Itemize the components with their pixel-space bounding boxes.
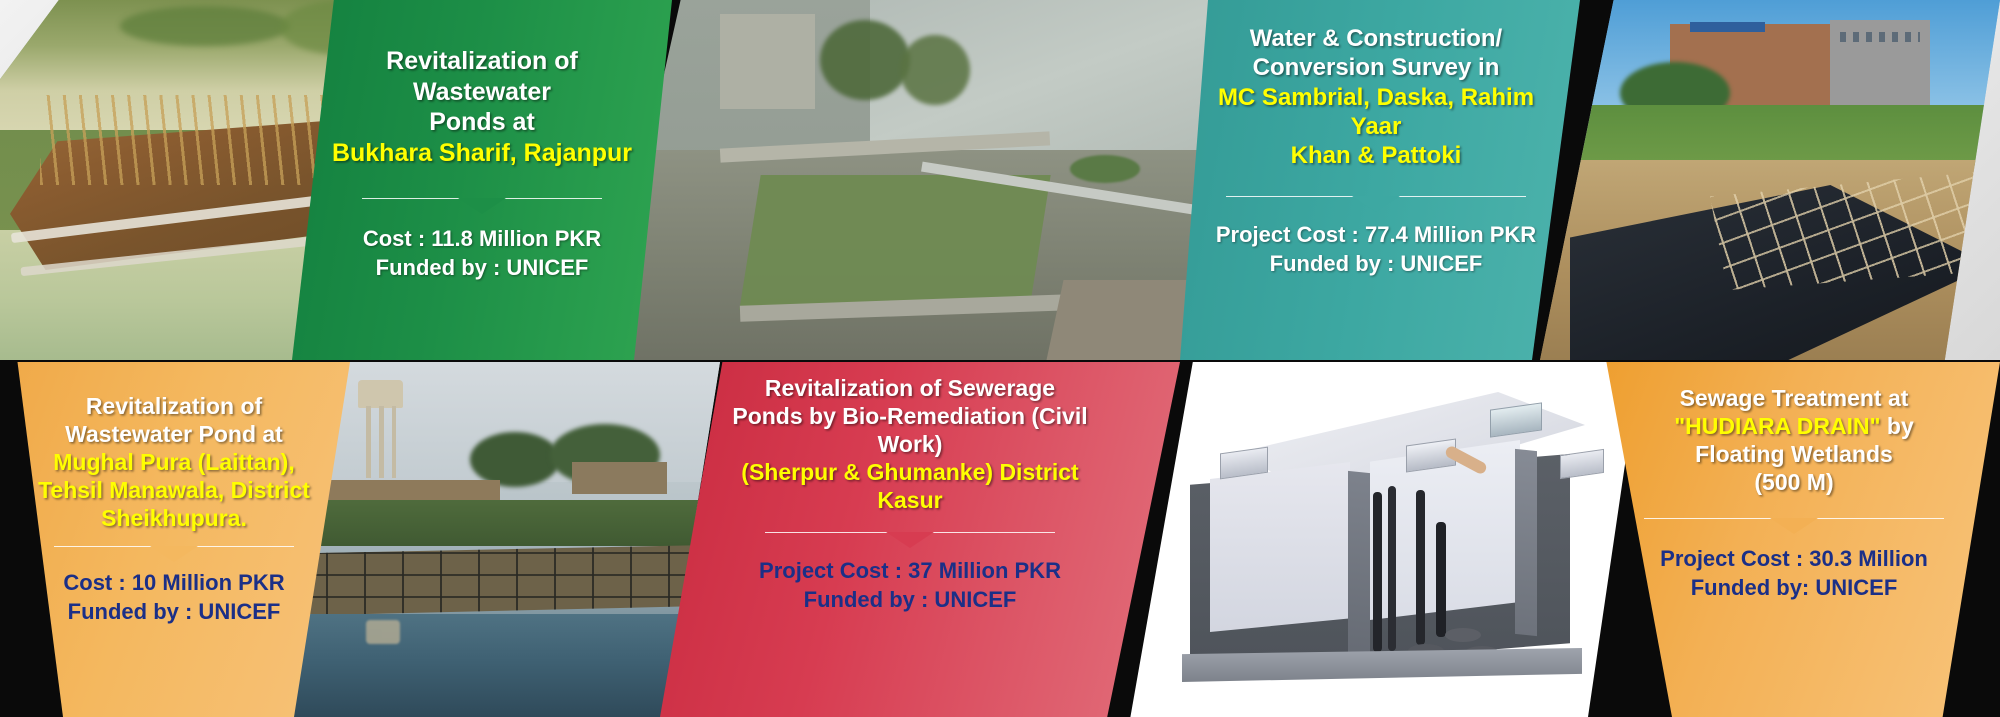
vertical-pipe [1373, 492, 1382, 652]
tank-divider-wall [1348, 471, 1370, 658]
panel-title: Revitalization of Wastewater Pond at Mug… [32, 392, 316, 532]
tree-canopy [900, 35, 970, 105]
building-structure [720, 14, 815, 109]
grass-embankment [1540, 105, 2000, 167]
vertical-pipe [1388, 486, 1396, 651]
infographic-board: Revitalization of Wastewater Ponds at Bu… [0, 0, 2000, 717]
panel-title: Water & Construction/ Conversion Survey … [1186, 24, 1566, 170]
cost-line: Project Cost : 30.3 Million [1660, 545, 1928, 574]
panel-cost-block: Project Cost : 30.3 Million Funded by: U… [1660, 545, 1928, 602]
panel-hudiara-drain-floating-wetlands: Sewage Treatment at "HUDIARA DRAIN" by F… [1604, 384, 1984, 694]
funded-line: Funded by : UNICEF [759, 586, 1061, 615]
panel-divider-group [700, 532, 1120, 533]
title-line: Sewage Treatment at [1674, 384, 1913, 412]
title-highlight-with-suffix: "HUDIARA DRAIN" by [1674, 412, 1913, 440]
title-line: Revitalization of Wastewater [318, 46, 646, 107]
funded-line: Funded by : UNICEF [363, 254, 601, 283]
title-highlight-line: MC Sambrial, Daska, Rahim Yaar [1192, 83, 1560, 142]
cost-line: Project Cost : 37 Million PKR [759, 557, 1061, 586]
vertical-pipe [1436, 522, 1446, 637]
title-line: (500 M) [1674, 468, 1913, 496]
tree-canopy [470, 432, 560, 487]
photo-aerial-treatment-pond-site [600, 0, 1220, 360]
photo-treatment-tank-3d-render [1120, 362, 1640, 717]
panel-title: Revitalization of Sewerage Ponds by Bio-… [726, 374, 1093, 514]
title-highlight-line: "HUDIARA DRAIN" [1674, 413, 1880, 439]
title-highlight-line: Tehsil Manawala, District [38, 476, 310, 504]
water-tower-tank [358, 380, 403, 408]
cost-line: Cost : 10 Million PKR [63, 569, 284, 598]
arrow-down-icon [1770, 518, 1818, 534]
title-line: Ponds at [318, 107, 646, 138]
grass-plot [739, 175, 1050, 310]
grey-building-windows [1840, 32, 1920, 42]
funded-line: Funded by : UNICEF [1216, 250, 1536, 279]
panel-cost-block: Cost : 10 Million PKR Funded by : UNICEF [63, 569, 284, 626]
arrow-down-icon [458, 198, 506, 214]
photo-lined-drain-with-buildings [1540, 0, 2000, 360]
panel-divider-group [14, 546, 334, 547]
panel-title: Sewage Treatment at "HUDIARA DRAIN" by F… [1668, 384, 1919, 496]
funded-line: Funded by : UNICEF [63, 598, 284, 627]
title-line: Floating Wetlands [1674, 440, 1913, 468]
title-line: Revitalization of [38, 392, 310, 420]
funded-line: Funded by: UNICEF [1660, 574, 1928, 603]
panel-cost-block: Cost : 11.8 Million PKR Funded by : UNIC… [363, 225, 601, 282]
title-line: Ponds by Bio-Remediation (Civil [732, 402, 1087, 430]
arrow-down-icon [886, 532, 934, 548]
tank-divider-wall [1515, 449, 1537, 636]
title-line: Revitalization of Sewerage [732, 374, 1087, 402]
vertical-pipe [1416, 490, 1425, 645]
title-line: Water & Construction/ [1192, 24, 1560, 53]
panel-cost-block: Project Cost : 37 Million PKR Funded by … [759, 557, 1061, 614]
tower-reflection [366, 620, 400, 644]
title-line: Wastewater Pond at [38, 420, 310, 448]
title-suffix: by [1887, 413, 1914, 439]
cost-line: Cost : 11.8 Million PKR [363, 225, 601, 254]
title-highlight-line: Khan & Pattoki [1192, 141, 1560, 170]
title-highlight-line: Kasur [732, 486, 1087, 514]
title-highlight-line: Sheikhupura. [38, 504, 310, 532]
title-highlight-line: (Sherpur & Ghumanke) District [732, 458, 1087, 486]
title-highlight-line: Bukhara Sharif, Rajanpur [318, 138, 646, 169]
tank-chamber-interior [1210, 462, 1350, 632]
title-line: Work) [732, 430, 1087, 458]
panel-divider-group [1186, 196, 1566, 197]
panel-mc-sambrial-daska: Water & Construction/ Conversion Survey … [1186, 24, 1566, 324]
cost-line: Project Cost : 77.4 Million PKR [1216, 221, 1536, 250]
panel-sherpur-ghumanke-kasur: Revitalization of Sewerage Ponds by Bio-… [700, 374, 1120, 704]
village-building [572, 462, 667, 494]
water-tower-legs [366, 406, 396, 478]
brick-building-roofline [1690, 22, 1765, 32]
tree-canopy [820, 20, 910, 100]
panel-divider-group [312, 198, 652, 199]
title-highlight-line: Mughal Pura (Laittan), [38, 448, 310, 476]
arrow-down-icon [150, 546, 198, 562]
access-hatch-box [1560, 449, 1604, 479]
reed-reflection [120, 6, 290, 46]
panel-title: Revitalization of Wastewater Ponds at Bu… [312, 46, 652, 168]
panel-bukhara-sharif-rajanpur: Revitalization of Wastewater Ponds at Bu… [312, 46, 652, 326]
pond-vegetation [1070, 155, 1140, 183]
panel-divider-group [1604, 518, 1984, 519]
aeration-diffuser-disc [1445, 628, 1481, 642]
title-line: Conversion Survey in [1192, 53, 1560, 82]
panel-mughal-pura-sheikhupura: Revitalization of Wastewater Pond at Mug… [14, 392, 334, 692]
arrow-down-icon [1352, 196, 1400, 212]
panel-cost-block: Project Cost : 77.4 Million PKR Funded b… [1216, 221, 1536, 278]
